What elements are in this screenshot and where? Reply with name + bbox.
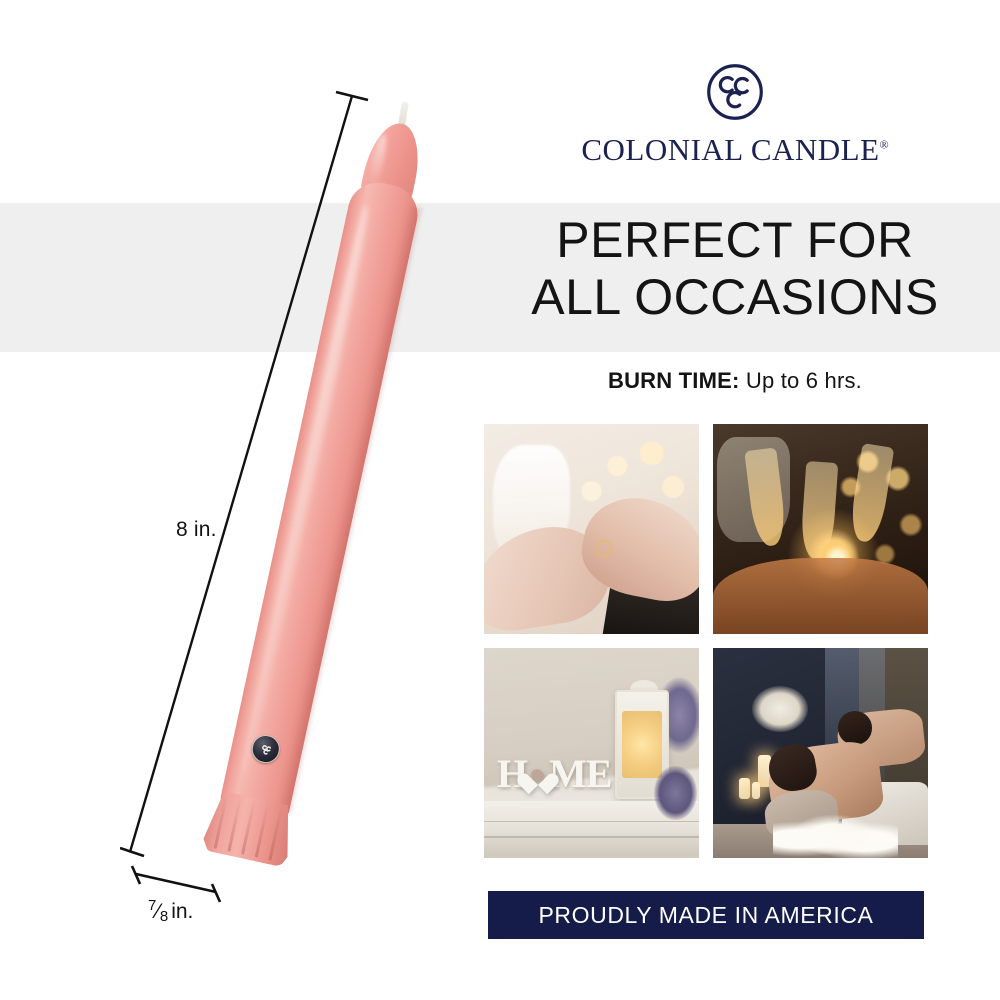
width-fraction: 7⁄8 xyxy=(148,898,168,922)
brand-name-text: COLONIAL CANDLE xyxy=(581,132,879,167)
lifestyle-photo-grid: HME xyxy=(484,424,928,858)
heart-inner xyxy=(529,766,547,784)
shelf-plank-line xyxy=(484,836,699,838)
brand-name: COLONIAL CANDLE® xyxy=(581,132,888,168)
made-in-america-text: PROUDLY MADE IN AMERICA xyxy=(538,902,873,929)
wedding-ring xyxy=(596,540,613,557)
lantern-glow xyxy=(622,711,662,778)
headline-line-1: PERFECT FOR xyxy=(470,212,1000,269)
home-letter-sign: HME xyxy=(497,750,612,797)
photo-home-decor: HME xyxy=(484,648,699,858)
heart-icon xyxy=(525,762,551,786)
triple-c-monogram-icon xyxy=(705,62,765,122)
burn-time: BURN TIME: Up to 6 hrs. xyxy=(470,368,1000,394)
product-panel: 8 in. 7⁄8 in. xyxy=(0,0,470,1000)
photo-spa-relaxation xyxy=(713,648,928,858)
white-orchids xyxy=(773,812,898,858)
spa-guest-hair xyxy=(838,711,872,745)
lavender-sprigs xyxy=(654,766,697,821)
fraction-denominator: 8 xyxy=(160,908,168,925)
product-infographic: 8 in. 7⁄8 in. xyxy=(0,0,1000,1000)
headline: PERFECT FOR ALL OCCASIONS xyxy=(470,212,1000,326)
orchid-arrangement xyxy=(752,686,808,732)
length-dimension-label: 8 in. xyxy=(176,518,217,542)
width-dimension: 7⁄8 in. xyxy=(126,862,306,952)
burn-time-label: BURN TIME: xyxy=(608,368,740,393)
guest-hands xyxy=(713,558,928,634)
photo-wedding-rings xyxy=(484,424,699,634)
brand-logo: COLONIAL CANDLE® xyxy=(470,62,1000,168)
shelf-plank-line xyxy=(484,821,699,823)
marketing-panel: COLONIAL CANDLE® PERFECT FOR ALL OCCASIO… xyxy=(470,0,1000,1000)
pillar-candle xyxy=(739,778,750,799)
champagne-flute xyxy=(848,443,895,543)
length-dimension: 8 in. xyxy=(120,80,400,870)
pillar-candle xyxy=(752,782,761,799)
registered-trademark-icon: ® xyxy=(880,138,889,152)
width-unit-label: in. xyxy=(171,900,193,924)
photo-holiday-toast xyxy=(713,424,928,634)
made-in-america-banner: PROUDLY MADE IN AMERICA xyxy=(488,891,924,939)
headline-line-2: ALL OCCASIONS xyxy=(470,269,1000,326)
burn-time-value: Up to 6 hrs. xyxy=(746,368,862,393)
width-dimension-label: 7⁄8 in. xyxy=(148,898,193,924)
